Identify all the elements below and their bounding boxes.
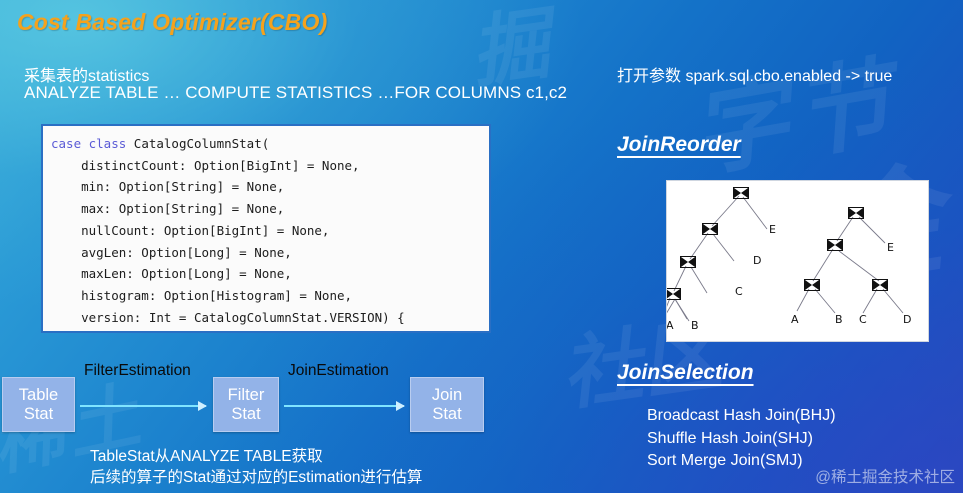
flow-caption-line-1: TableStat从ANALYZE TABLE获取 — [90, 446, 490, 467]
left-tree-leaf-d: D — [753, 254, 761, 267]
join-node-icon — [849, 208, 864, 219]
join-reorder-heading: JoinReorder — [617, 133, 741, 157]
join-node-icon — [681, 257, 696, 268]
code-line-6: maxLen: Option[Long] = None, — [51, 263, 489, 285]
join-node-icon — [805, 280, 820, 291]
analyze-table-sql-statement: ANALYZE TABLE … COMPUTE STATISTICS …FOR … — [24, 83, 567, 103]
table-stat-box: Table Stat — [2, 377, 75, 432]
join-node-icon — [873, 280, 888, 291]
join-strategy-item-smj: Sort Merge Join(SMJ) — [647, 450, 836, 473]
join-node-icon — [703, 224, 718, 235]
table-stat-line2: Stat — [3, 405, 74, 424]
code-line-7: histogram: Option[Histogram] = None, — [51, 285, 489, 307]
filter-stat-line1: Filter — [214, 386, 278, 405]
right-tree-leaf-a: A — [791, 313, 799, 326]
left-tree-leaf-b: B — [691, 319, 699, 332]
filter-stat-box: Filter Stat — [213, 377, 279, 432]
flow-caption: TableStat从ANALYZE TABLE获取 后续的算子的Stat通过对应… — [90, 446, 490, 488]
join-node-icon — [667, 289, 681, 300]
right-tree-leaf-b: B — [835, 313, 843, 326]
right-tree-leaf-d: D — [903, 313, 911, 326]
join-stat-line2: Stat — [411, 405, 483, 424]
join-stat-box: Join Stat — [410, 377, 484, 432]
join-strategy-item-shj: Shuffle Hash Join(SHJ) — [647, 428, 836, 451]
code-keyword: case class — [51, 136, 126, 151]
scala-code-block: case class CatalogColumnStat( distinctCo… — [41, 124, 491, 333]
join-estimation-label: JoinEstimation — [288, 362, 389, 380]
code-line-0: case class CatalogColumnStat( — [51, 133, 489, 155]
right-tree-leaf-e: E — [887, 241, 894, 254]
slide-title: Cost Based Optimizer(CBO) — [17, 9, 327, 36]
filter-stat-line2: Stat — [214, 405, 278, 424]
code-line-4: nullCount: Option[BigInt] = None, — [51, 220, 489, 242]
join-strategy-list: Broadcast Hash Join(BHJ) Shuffle Hash Jo… — [647, 405, 836, 473]
join-tree-svg: A B C D E A B C D E — [667, 181, 928, 341]
join-strategy-item-bhj: Broadcast Hash Join(BHJ) — [647, 405, 836, 428]
table-stat-line1: Table — [3, 386, 74, 405]
join-tree-diagram: A B C D E A B C D E — [666, 180, 929, 342]
code-line-3: max: Option[String] = None, — [51, 198, 489, 220]
join-node-icon — [734, 188, 749, 199]
code-line-1: distinctCount: Option[BigInt] = None, — [51, 155, 489, 177]
flow-caption-line-2: 后续的算子的Stat通过对应的Estimation进行估算 — [90, 467, 490, 488]
slide-canvas: 掘 字节 稀土 掘金 社区 Cost Based Optimizer(CBO) … — [0, 0, 963, 493]
corner-watermark: @稀土掘金技术社区 — [815, 465, 955, 487]
left-tree-leaf-e: E — [769, 223, 776, 236]
right-tree-leaf-c: C — [859, 313, 867, 326]
filter-estimation-label: FilterEstimation — [84, 362, 191, 380]
code-line-0-rest: CatalogColumnStat( — [126, 136, 269, 151]
join-selection-heading: JoinSelection — [617, 361, 754, 385]
code-line-5: avgLen: Option[Long] = None, — [51, 242, 489, 264]
arrow-filter-to-join — [284, 405, 404, 407]
stat-flow-diagram: Table Stat FilterEstimation Filter Stat … — [0, 377, 500, 433]
code-line-8: version: Int = CatalogColumnStat.VERSION… — [51, 307, 489, 329]
join-stat-line1: Join — [411, 386, 483, 405]
left-tree-leaf-c: C — [735, 285, 743, 298]
arrow-table-to-filter — [80, 405, 206, 407]
cbo-enable-parameter: 打开参数 spark.sql.cbo.enabled -> true — [617, 62, 892, 86]
background-watermark-mark-2: 字节 — [680, 23, 909, 196]
left-tree-leaf-a: A — [667, 319, 674, 332]
code-line-2: min: Option[String] = None, — [51, 176, 489, 198]
join-node-icon — [828, 240, 843, 251]
